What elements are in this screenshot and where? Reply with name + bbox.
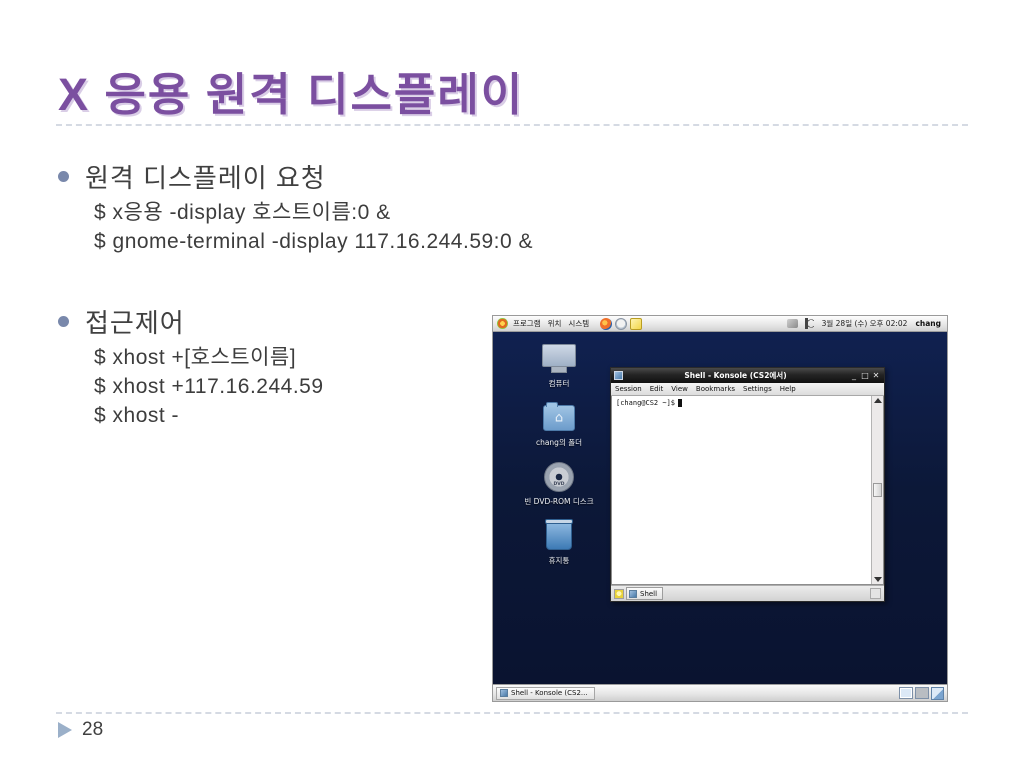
- desktop-icon-label: 휴지통: [511, 555, 607, 566]
- bullet-row: 접근제어: [58, 303, 488, 340]
- desktop-icon-label: 빈 DVD-ROM 디스크: [511, 496, 607, 507]
- menu-edit[interactable]: Edit: [650, 385, 664, 393]
- resize-grip-icon[interactable]: [870, 588, 881, 599]
- footer-divider: [56, 712, 968, 714]
- desktop-icon-trash[interactable]: 휴지통: [511, 519, 607, 566]
- menu-applications[interactable]: 프로그램: [513, 318, 541, 329]
- terminal-cursor: [678, 399, 682, 407]
- terminal-prompt-line: [chang@CS2 ~]$: [616, 399, 867, 407]
- show-desktop-icon[interactable]: [931, 687, 944, 700]
- bullet-heading: 원격 디스플레이 요청: [85, 158, 326, 195]
- menu-help[interactable]: Help: [780, 385, 796, 393]
- konsole-icon: [500, 689, 508, 697]
- konsole-menubar: Session Edit View Bookmarks Settings Hel…: [611, 383, 884, 396]
- konsole-window[interactable]: Shell - Konsole (CS2에서) _ □ ✕ Session Ed…: [610, 367, 885, 602]
- menu-view[interactable]: View: [671, 385, 688, 393]
- terminal-output-area[interactable]: [chang@CS2 ~]$: [612, 396, 871, 584]
- code-line: $ gnome-terminal -display 117.16.244.59:…: [94, 228, 488, 257]
- network-icon[interactable]: [787, 319, 798, 328]
- firefox-icon[interactable]: [600, 318, 612, 330]
- scrollbar-thumb[interactable]: [873, 483, 882, 497]
- bullet-dot-icon: [58, 316, 69, 327]
- text-editor-icon[interactable]: [630, 318, 642, 330]
- scroll-up-icon[interactable]: [874, 398, 882, 403]
- menu-bookmarks[interactable]: Bookmarks: [696, 385, 735, 393]
- computer-icon: [511, 342, 607, 376]
- page-title: X 응용 원격 디스플레이: [58, 58, 524, 123]
- bullet-group-access-control: 접근제어 $ xhost +[호스트이름] $ xhost +117.16.24…: [58, 303, 488, 431]
- workspace-switcher-1[interactable]: [899, 687, 913, 699]
- gnome-foot-icon[interactable]: [497, 318, 508, 329]
- desktop-icon-label: chang의 폴더: [511, 437, 607, 448]
- menu-session[interactable]: Session: [615, 385, 642, 393]
- embedded-desktop-screenshot: 프로그램 위치 시스템 3월 28일 (수) 오후 02:02 chang 컴퓨…: [492, 315, 948, 702]
- new-session-icon[interactable]: [614, 589, 624, 599]
- menu-settings[interactable]: Settings: [743, 385, 772, 393]
- help-icon[interactable]: [615, 318, 627, 330]
- code-line: $ xhost +117.16.244.59: [94, 373, 488, 402]
- dvd-rom-icon: [511, 460, 607, 494]
- code-line: $ xhost +[호스트이름]: [94, 344, 488, 373]
- terminal-scrollbar[interactable]: [871, 396, 883, 584]
- taskbar-window-label: Shell - Konsole (CS2...: [511, 689, 588, 697]
- workspace-switcher-2[interactable]: [915, 687, 929, 699]
- taskbar-window-button[interactable]: Shell - Konsole (CS2...: [496, 687, 595, 700]
- bullet-dot-icon: [58, 171, 69, 182]
- code-line: $ x응용 -display 호스트이름:0 &: [94, 199, 488, 228]
- scroll-down-icon[interactable]: [874, 577, 882, 582]
- desktop-icon-dvd-rom[interactable]: 빈 DVD-ROM 디스크: [511, 460, 607, 507]
- desktop-icon-list: 컴퓨터 ⌂ chang의 폴더 빈 DVD-ROM 디스크 휴지통: [511, 342, 607, 578]
- close-button[interactable]: ✕: [871, 371, 881, 381]
- footer-arrow-icon: [58, 722, 72, 738]
- shell-prompt: [chang@CS2 ~]$: [616, 399, 675, 407]
- trash-icon: [511, 519, 607, 553]
- title-divider: [56, 124, 968, 126]
- konsole-titlebar[interactable]: Shell - Konsole (CS2에서) _ □ ✕: [611, 368, 884, 383]
- desktop-icon-label: 컴퓨터: [511, 378, 607, 389]
- desktop-icon-computer[interactable]: 컴퓨터: [511, 342, 607, 389]
- user-name[interactable]: chang: [915, 319, 941, 328]
- slide-content: 원격 디스플레이 요청 $ x응용 -display 호스트이름:0 & $ g…: [58, 158, 488, 459]
- code-line: $ xhost -: [94, 402, 488, 431]
- konsole-body: [chang@CS2 ~]$: [611, 396, 884, 585]
- home-folder-icon: ⌂: [511, 401, 607, 435]
- konsole-window-title: Shell - Konsole (CS2에서): [623, 370, 848, 381]
- slide-number: 28: [82, 719, 103, 741]
- konsole-icon: [614, 371, 623, 380]
- konsole-statusbar: Shell: [611, 585, 884, 601]
- session-tab-shell[interactable]: Shell: [626, 587, 663, 600]
- menu-places[interactable]: 위치: [548, 318, 562, 329]
- gnome-bottom-panel: Shell - Konsole (CS2...: [493, 684, 947, 701]
- bullet-heading: 접근제어: [85, 303, 185, 340]
- bullet-group-remote-display: 원격 디스플레이 요청 $ x응용 -display 호스트이름:0 & $ g…: [58, 158, 488, 257]
- session-tab-label: Shell: [640, 590, 657, 598]
- maximize-button[interactable]: □: [860, 371, 870, 381]
- desktop-surface: 컴퓨터 ⌂ chang의 폴더 빈 DVD-ROM 디스크 휴지통: [493, 332, 947, 684]
- menu-system[interactable]: 시스템: [568, 318, 589, 329]
- bullet-row: 원격 디스플레이 요청: [58, 158, 488, 195]
- desktop-icon-home-folder[interactable]: ⌂ chang의 폴더: [511, 401, 607, 448]
- terminal-icon: [629, 590, 637, 598]
- volume-icon[interactable]: [803, 318, 814, 329]
- minimize-button[interactable]: _: [849, 371, 859, 381]
- clock[interactable]: 3월 28일 (수) 오후 02:02: [822, 318, 908, 329]
- gnome-top-panel: 프로그램 위치 시스템 3월 28일 (수) 오후 02:02 chang: [493, 316, 947, 332]
